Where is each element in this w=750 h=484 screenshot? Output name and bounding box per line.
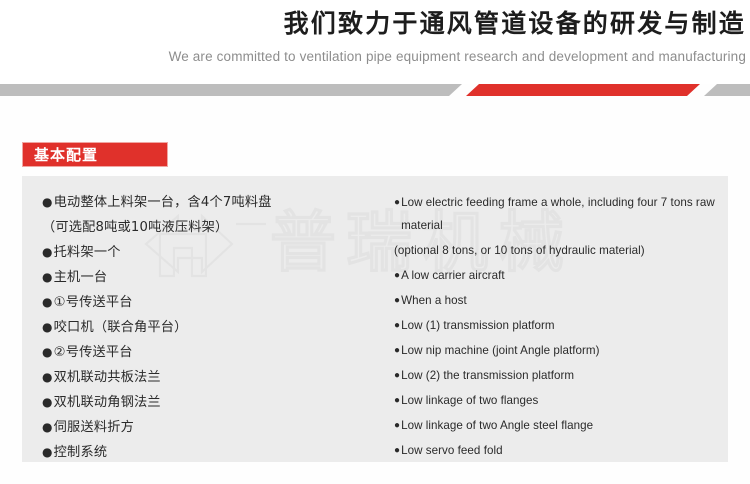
spec-list-item: ● Low nip machine (joint Angle platform) <box>394 339 728 362</box>
spec-list-item: ● 双机联动共板法兰 <box>42 366 370 389</box>
spec-list-item: ● Low (2) the transmission platform <box>394 364 728 387</box>
spec-columns: ● 电动整体上料架一台，含4个7吨料盘 （可选配8吨或10吨液压料架） ● 托料… <box>22 176 728 462</box>
bullet-icon: ● <box>394 389 400 412</box>
spec-item-text: 托料架一个 <box>54 241 370 264</box>
decorative-stripe-band <box>0 84 750 96</box>
spec-list-item: （可选配8吨或10吨液压料架） <box>42 216 370 239</box>
spec-list-item: ● ①号传送平台 <box>42 291 370 314</box>
bullet-icon: ● <box>394 339 400 362</box>
page-subtitle: We are committed to ventilation pipe equ… <box>169 48 746 66</box>
spec-item-text: ①号传送平台 <box>54 291 370 314</box>
basic-configuration-card: 普瑞机械 ● 电动整体上料架一台，含4个7吨料盘 （可选配8吨或10吨液压料架）… <box>22 176 728 462</box>
spec-list-item: ● 托料架一个 <box>42 241 370 264</box>
spec-list-item: ● Low servo feed fold <box>394 439 728 462</box>
spec-item-text: 双机联动角钢法兰 <box>54 391 370 414</box>
bullet-icon: ● <box>394 264 400 287</box>
bullet-icon: ● <box>394 289 400 312</box>
bullet-icon: ● <box>42 266 53 289</box>
bullet-icon: ● <box>42 416 53 439</box>
spec-list-item: ● 主机一台 <box>42 266 370 289</box>
bullet-icon: ● <box>42 241 53 264</box>
section-header-tab: 基本配置 <box>22 142 168 167</box>
spec-list-item: ● A low carrier aircraft <box>394 264 728 287</box>
bullet-icon: ● <box>42 316 53 339</box>
spec-list-item: (optional 8 tons, or 10 tons of hydrauli… <box>394 239 728 262</box>
spec-item-text: Low linkage of two Angle steel flange <box>401 414 728 437</box>
bullet-icon: ● <box>42 191 53 214</box>
bullet-icon: ● <box>42 291 53 314</box>
spec-item-text: 主机一台 <box>54 266 370 289</box>
spec-item-text: Low (1) transmission platform <box>401 314 728 337</box>
spec-item-text: 控制系统 <box>54 441 370 462</box>
spec-list-item: ● 电动整体上料架一台，含4个7吨料盘 <box>42 191 370 214</box>
stripe-segment-red <box>466 84 700 96</box>
spec-list-item: ● ②号传送平台 <box>42 341 370 364</box>
spec-item-text: When a host <box>401 289 728 312</box>
bullet-icon: ● <box>394 314 400 337</box>
stripe-segment-gray-right <box>704 84 750 96</box>
spec-item-text: ②号传送平台 <box>54 341 370 364</box>
spec-item-text: 电动整体上料架一台，含4个7吨料盘 <box>54 191 370 214</box>
spec-list-item: ● 咬口机（联合角平台） <box>42 316 370 339</box>
spec-column-chinese: ● 电动整体上料架一台，含4个7吨料盘 （可选配8吨或10吨液压料架） ● 托料… <box>22 176 370 462</box>
bullet-icon: ● <box>394 191 400 214</box>
bullet-icon: ● <box>394 364 400 387</box>
spec-list-item: ● When a host <box>394 289 728 312</box>
spec-item-text: Low (2) the transmission platform <box>401 364 728 387</box>
page-header: 我们致力于通风管道设备的研发与制造 We are committed to ve… <box>0 0 750 84</box>
spec-list-item: ● 双机联动角钢法兰 <box>42 391 370 414</box>
spec-item-text: Low electric feeding frame a whole, incl… <box>401 191 728 237</box>
page-title: 我们致力于通风管道设备的研发与制造 <box>284 8 746 40</box>
spec-list-item: ● Low electric feeding frame a whole, in… <box>394 191 728 237</box>
spec-item-text: A low carrier aircraft <box>401 264 728 287</box>
stripe-segment-gray-left <box>0 84 462 96</box>
bullet-icon: ● <box>42 366 53 389</box>
spec-list-item: ● Low linkage of two Angle steel flange <box>394 414 728 437</box>
spec-item-text: Low nip machine (joint Angle platform) <box>401 339 728 362</box>
bullet-icon: ● <box>394 414 400 437</box>
bullet-icon: ● <box>42 391 53 414</box>
spec-item-text: Low servo feed fold <box>401 439 728 462</box>
bullet-icon: ● <box>42 341 53 364</box>
spec-list-item: ● Low linkage of two flanges <box>394 389 728 412</box>
section-header-label: 基本配置 <box>34 144 98 165</box>
bullet-icon: ● <box>394 439 400 462</box>
spec-list-item: ● Low (1) transmission platform <box>394 314 728 337</box>
spec-column-english: ● Low electric feeding frame a whole, in… <box>370 176 728 462</box>
spec-item-text: （可选配8吨或10吨液压料架） <box>42 216 370 239</box>
spec-item-text: 伺服送料折方 <box>54 416 370 439</box>
spec-item-text: 咬口机（联合角平台） <box>54 316 370 339</box>
spec-item-text: 双机联动共板法兰 <box>54 366 370 389</box>
spec-item-text: (optional 8 tons, or 10 tons of hydrauli… <box>394 239 728 262</box>
spec-list-item: ● 控制系统 <box>42 441 370 462</box>
spec-item-text: Low linkage of two flanges <box>401 389 728 412</box>
bullet-icon: ● <box>42 441 53 462</box>
spec-list-item: ● 伺服送料折方 <box>42 416 370 439</box>
